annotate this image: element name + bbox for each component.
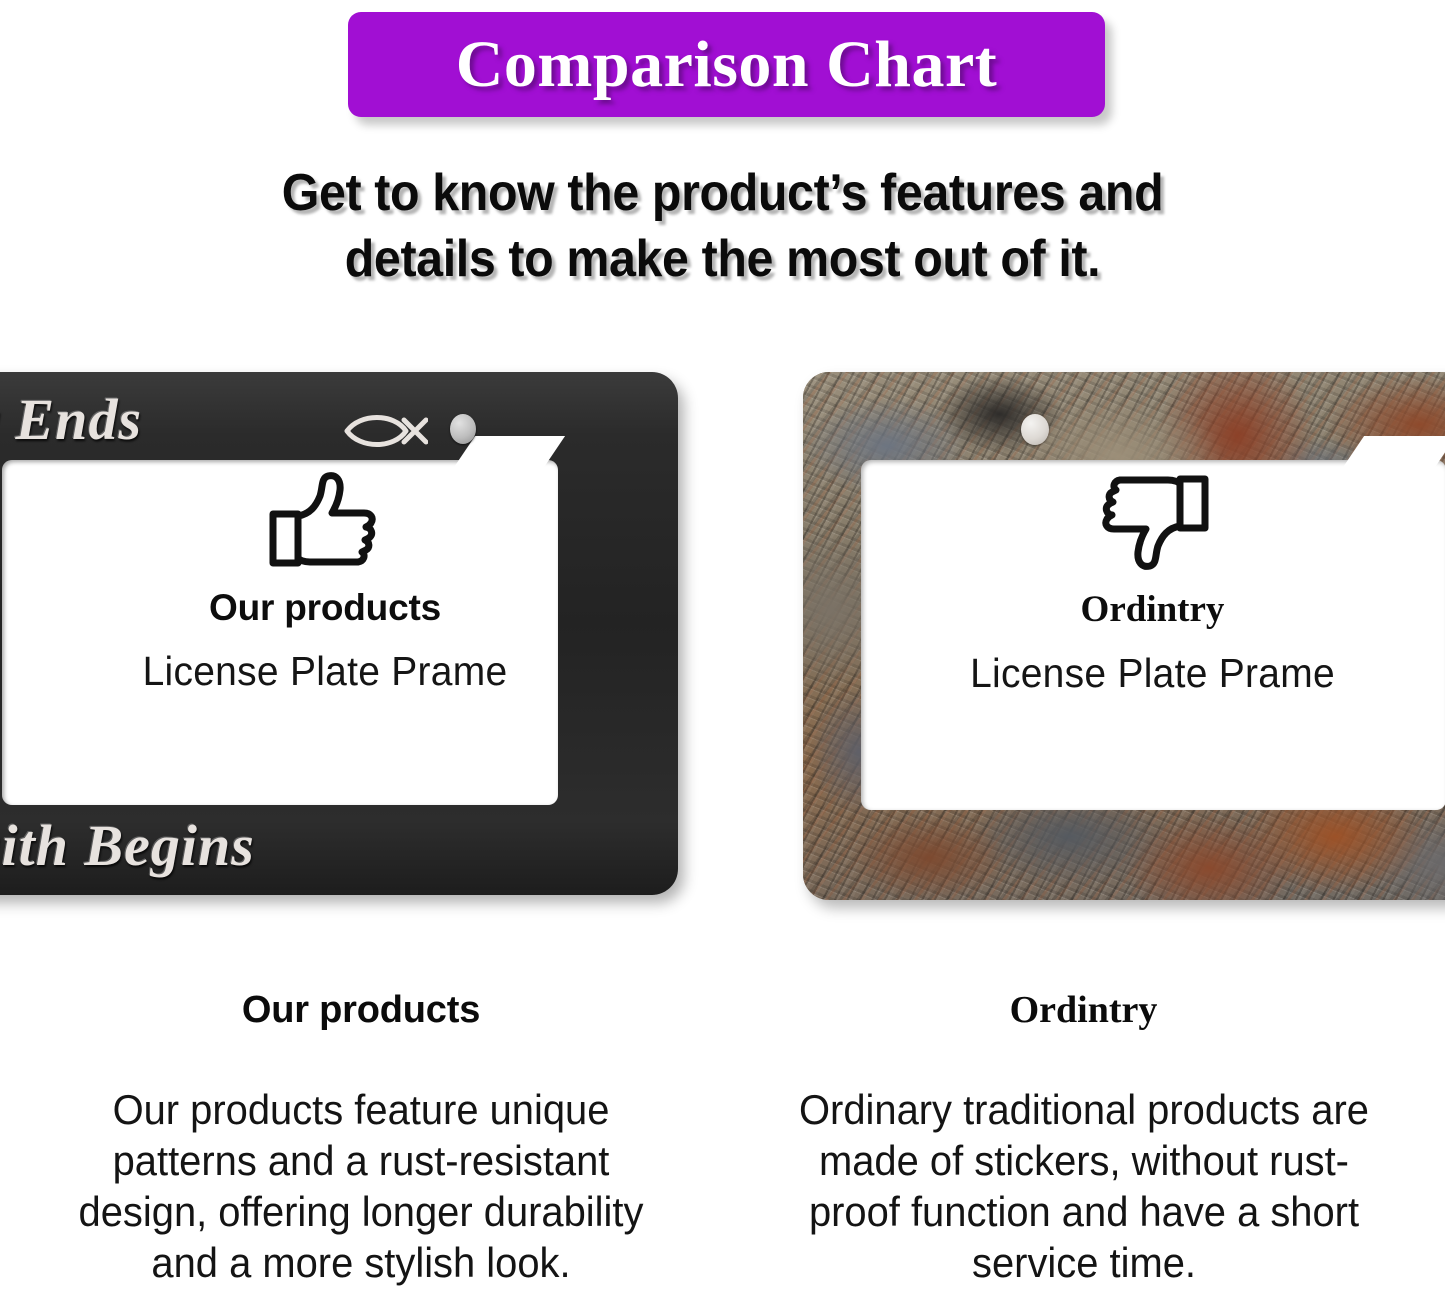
left-plate-label: Our products xyxy=(0,588,650,629)
thumbs-down-icon xyxy=(1094,472,1212,572)
plate-top-engraving: Fear Ends xyxy=(0,386,142,453)
left-plate-content: Our products License Plate Prame xyxy=(0,470,650,694)
left-plate-mounting-hole xyxy=(450,414,476,444)
right-plate-label: Ordintry xyxy=(860,590,1445,631)
ordinary-caption-column: Ordintry Ordinary traditional products a… xyxy=(722,990,1445,1288)
right-plate-content: Ordintry License Plate Prame xyxy=(860,472,1445,696)
our-products-description: Our products feature unique patterns and… xyxy=(67,1084,656,1288)
our-products-caption-column: Our products Our products feature unique… xyxy=(0,990,722,1288)
right-plate-mounting-hole xyxy=(1021,414,1049,445)
ichthys-fish-icon xyxy=(342,408,428,454)
ordinary-heading: Ordintry xyxy=(722,990,1445,1032)
comparison-captions: Our products Our products feature unique… xyxy=(0,990,1445,1288)
thumbs-up-icon xyxy=(266,470,384,570)
ordinary-description: Ordinary traditional products are made o… xyxy=(780,1084,1388,1288)
right-plate-sublabel: License Plate Prame xyxy=(875,651,1431,696)
our-products-heading: Our products xyxy=(0,990,722,1032)
left-plate-sublabel: License Plate Prame xyxy=(16,649,634,694)
plate-bottom-engraving: re Faith Begins xyxy=(0,812,255,879)
